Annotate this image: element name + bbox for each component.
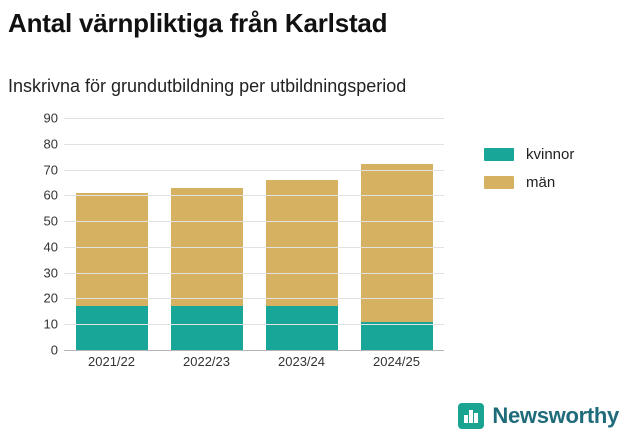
y-axis-tick-label: 70 (44, 162, 58, 177)
bar-column[interactable] (171, 118, 243, 350)
legend-item[interactable]: kvinnor (484, 140, 574, 168)
chart-plot-area: 0102030405060708090 2021/222022/232023/2… (0, 118, 460, 368)
x-axis: 2021/222022/232023/242024/25 (64, 354, 444, 369)
page-subtitle: Inskrivna för grundutbildning per utbild… (8, 76, 406, 97)
x-axis-tick-label: 2021/22 (76, 354, 148, 369)
bar-segment[interactable] (171, 306, 243, 350)
legend-swatch (484, 176, 514, 189)
legend-item[interactable]: män (484, 168, 574, 196)
x-axis-tick-label: 2023/24 (266, 354, 338, 369)
y-axis-tick-label: 10 (44, 317, 58, 332)
grid-line (64, 350, 444, 351)
grid-line (64, 324, 444, 325)
grid-line (64, 170, 444, 171)
bar-column[interactable] (361, 118, 433, 350)
bar-segment[interactable] (76, 193, 148, 306)
legend-swatch (484, 148, 514, 161)
bar-segment[interactable] (266, 306, 338, 350)
grid-line (64, 144, 444, 145)
y-axis-tick-label: 40 (44, 239, 58, 254)
grid-line (64, 247, 444, 248)
legend-label: män (526, 174, 555, 191)
bar-segment[interactable] (361, 322, 433, 350)
chart-legend: kvinnormän (484, 140, 574, 196)
grid-line (64, 118, 444, 119)
page-title: Antal värnpliktiga från Karlstad (8, 8, 387, 39)
grid-line (64, 195, 444, 196)
y-axis-tick-label: 0 (51, 343, 58, 358)
y-axis-tick-label: 60 (44, 188, 58, 203)
bar-segment[interactable] (76, 306, 148, 350)
grid-line (64, 298, 444, 299)
bar-segment[interactable] (266, 180, 338, 306)
bar-group (64, 118, 444, 350)
bar-column[interactable] (266, 118, 338, 350)
brand-footer: Newsworthy (458, 403, 619, 429)
grid-area (64, 118, 444, 350)
y-axis-tick-label: 20 (44, 291, 58, 306)
y-axis-tick-label: 90 (44, 111, 58, 126)
grid-line (64, 273, 444, 274)
y-axis-tick-label: 50 (44, 214, 58, 229)
legend-label: kvinnor (526, 146, 574, 163)
brand-name: Newsworthy (492, 403, 619, 429)
bar-chart-icon (458, 403, 484, 429)
grid-line (64, 221, 444, 222)
y-axis-tick-label: 30 (44, 265, 58, 280)
x-axis-tick-label: 2024/25 (361, 354, 433, 369)
bar-column[interactable] (76, 118, 148, 350)
x-axis-tick-label: 2022/23 (171, 354, 243, 369)
y-axis-tick-label: 80 (44, 136, 58, 151)
y-axis: 0102030405060708090 (0, 118, 64, 350)
